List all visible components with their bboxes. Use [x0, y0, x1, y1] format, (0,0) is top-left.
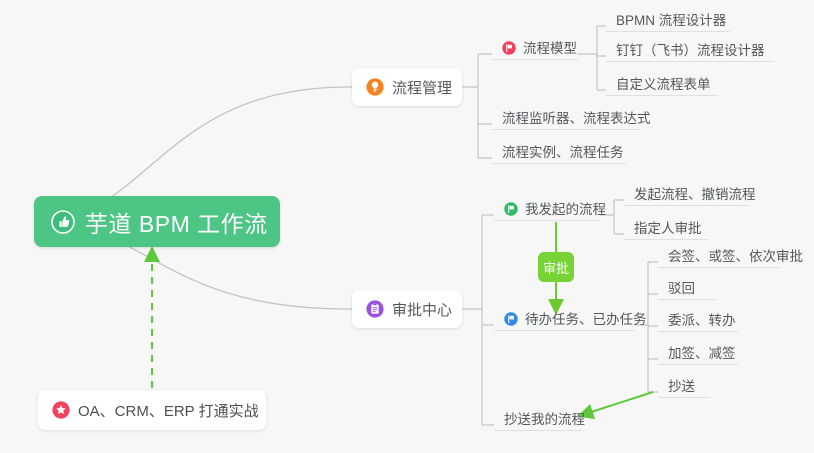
- node-label-reject: 驳回: [668, 281, 695, 296]
- node-bpmn-designer[interactable]: BPMN 流程设计器: [606, 10, 730, 32]
- mindmap-canvas: 芋道 BPM 工作流 流程管理: [0, 0, 814, 453]
- lightbulb-icon: [366, 78, 384, 96]
- node-label-process-listener-expression: 流程监听器、流程表达式: [502, 111, 651, 126]
- star-icon: [52, 401, 70, 419]
- root-label: 芋道 BPM 工作流: [85, 205, 268, 239]
- node-label-start-cancel-process: 发起流程、撤销流程: [634, 187, 756, 202]
- node-my-initiated-process[interactable]: 我发起的流程: [494, 199, 600, 221]
- branch-label-approval-center: 审批中心: [392, 299, 452, 320]
- node-label-process-instance-task: 流程实例、流程任务: [502, 145, 624, 160]
- clipboard-icon: [366, 300, 384, 318]
- node-process-listener-expression[interactable]: 流程监听器、流程表达式: [492, 108, 640, 130]
- node-label-my-initiated-process: 我发起的流程: [525, 202, 606, 217]
- node-label-cc: 抄送: [668, 379, 695, 394]
- arrow-cc-flow: [585, 392, 653, 414]
- node-label-todo-done-task: 待办任务、已办任务: [525, 312, 647, 327]
- node-label-custom-process-form: 自定义流程表单: [616, 77, 711, 92]
- flag-icon: [502, 41, 516, 55]
- thumbs-up-icon: [50, 209, 76, 235]
- branch-node-process-management[interactable]: 流程管理: [352, 68, 462, 106]
- integration-node-label: OA、CRM、ERP 打通实战: [78, 400, 259, 421]
- flag-icon: [504, 202, 518, 216]
- node-cc[interactable]: 抄送: [658, 376, 710, 398]
- node-label-delegate-transfer: 委派、转办: [668, 313, 736, 328]
- node-label-add-remove-sign: 加签、减签: [668, 346, 736, 361]
- node-start-cancel-process[interactable]: 发起流程、撤销流程: [624, 184, 750, 206]
- flag-icon: [504, 312, 518, 326]
- node-add-remove-sign[interactable]: 加签、减签: [658, 343, 738, 365]
- node-label-dingtalk-feishu-designer: 钉钉（飞书）流程设计器: [616, 43, 765, 58]
- approval-badge: 审批: [538, 252, 574, 282]
- node-assigned-approver[interactable]: 指定人审批: [624, 218, 708, 240]
- node-label-cc-to-me-process: 抄送我的流程: [504, 412, 585, 427]
- node-process-instance-task[interactable]: 流程实例、流程任务: [492, 142, 626, 164]
- node-countersign-orsign-sequential[interactable]: 会签、或签、依次审批: [658, 246, 780, 268]
- node-custom-process-form[interactable]: 自定义流程表单: [606, 74, 718, 96]
- node-label-assigned-approver: 指定人审批: [634, 221, 702, 236]
- node-label-bpmn-designer: BPMN 流程设计器: [616, 13, 726, 28]
- node-label-process-model: 流程模型: [523, 41, 577, 56]
- node-reject[interactable]: 驳回: [658, 278, 716, 300]
- branch-node-approval-center[interactable]: 审批中心: [352, 290, 462, 328]
- branch-label-process-management: 流程管理: [392, 77, 452, 98]
- node-todo-done-task[interactable]: 待办任务、已办任务: [494, 309, 635, 331]
- node-process-model[interactable]: 流程模型: [492, 38, 578, 60]
- root-node[interactable]: 芋道 BPM 工作流: [34, 196, 280, 247]
- integration-node[interactable]: OA、CRM、ERP 打通实战: [38, 390, 266, 430]
- node-label-countersign-orsign-sequential: 会签、或签、依次审批: [668, 249, 803, 264]
- approval-badge-label: 审批: [543, 258, 569, 277]
- node-delegate-transfer[interactable]: 委派、转办: [658, 310, 738, 332]
- node-dingtalk-feishu-designer[interactable]: 钉钉（飞书）流程设计器: [606, 40, 774, 62]
- node-cc-to-me-process[interactable]: 抄送我的流程: [494, 409, 582, 431]
